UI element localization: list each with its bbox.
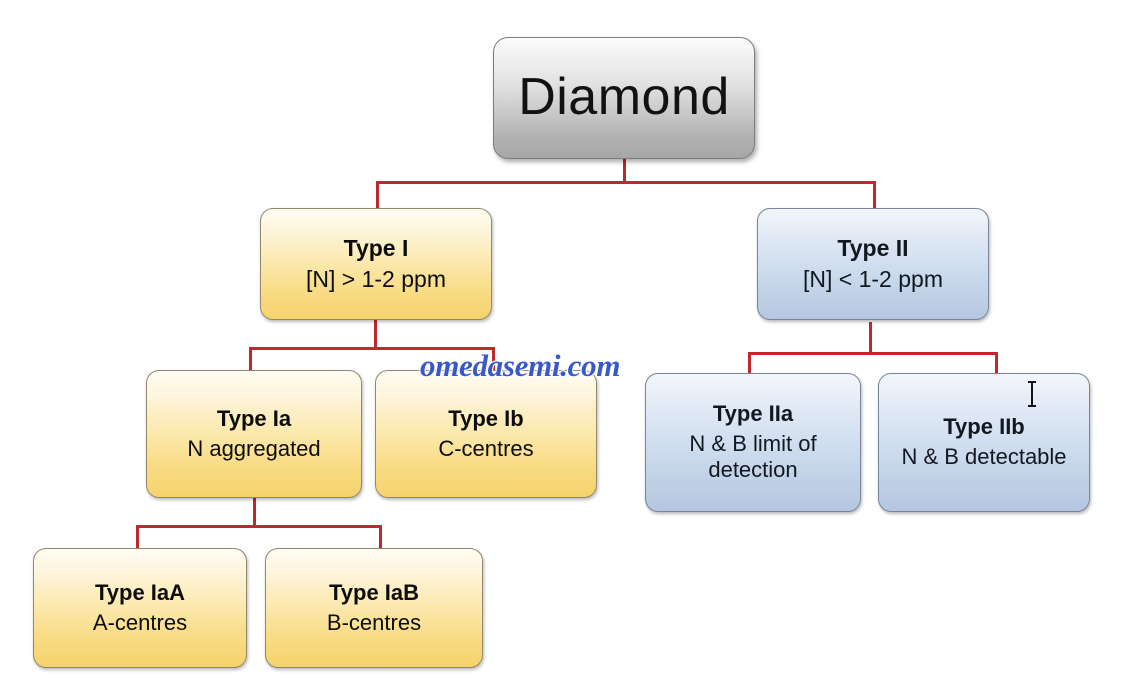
node-type-2b-subtitle: N & B detectable <box>894 444 1073 470</box>
connector-root-bar <box>376 181 876 184</box>
watermark: omedasemi.com <box>420 348 620 384</box>
connector-type1-to-type1a <box>249 347 252 371</box>
connector-type1a-to-type1aB <box>379 525 382 549</box>
text-cursor-artifact <box>1031 381 1033 407</box>
connector-type1a-bar <box>136 525 382 528</box>
node-type-2a[interactable]: Type IIa N & B limit of detection <box>645 373 861 512</box>
connector-root-stem <box>623 157 626 184</box>
node-type-2b-title: Type IIb <box>943 414 1025 440</box>
node-type-1b[interactable]: Type Ib C-centres <box>375 370 597 498</box>
node-type-2[interactable]: Type II [N] < 1-2 ppm <box>757 208 989 320</box>
connector-type2-to-type2b <box>995 352 998 374</box>
connector-type2-bar <box>748 352 998 355</box>
connector-type1a-to-type1aA <box>136 525 139 549</box>
connector-type1a-stem <box>253 497 256 526</box>
node-type-1aA-subtitle: A-centres <box>93 610 187 636</box>
node-diamond-title: Diamond <box>518 67 730 128</box>
node-type-1aB-title: Type IaB <box>329 580 419 606</box>
node-type-1a[interactable]: Type Ia N aggregated <box>146 370 362 498</box>
connector-type2-to-type2a <box>748 352 751 374</box>
node-type-2-subtitle: [N] < 1-2 ppm <box>803 266 943 294</box>
connector-root-to-type2 <box>873 181 876 210</box>
node-type-1b-title: Type Ib <box>448 406 523 432</box>
diagram-canvas: Diamond Type I [N] > 1-2 ppm Type II [N]… <box>0 0 1132 680</box>
connector-type2-stem <box>869 322 872 353</box>
node-type-1-subtitle: [N] > 1-2 ppm <box>306 266 446 294</box>
node-diamond[interactable]: Diamond <box>493 37 755 159</box>
connector-type1-stem <box>374 318 377 348</box>
node-type-1b-subtitle: C-centres <box>431 436 540 462</box>
node-type-2-title: Type II <box>837 235 908 262</box>
node-type-2b[interactable]: Type IIb N & B detectable <box>878 373 1090 512</box>
node-type-1[interactable]: Type I [N] > 1-2 ppm <box>260 208 492 320</box>
node-type-2a-title: Type IIa <box>713 401 793 427</box>
node-type-1aA[interactable]: Type IaA A-centres <box>33 548 247 668</box>
node-type-1-title: Type I <box>344 235 409 262</box>
node-type-1aB-subtitle: B-centres <box>327 610 421 636</box>
connector-root-to-type1 <box>376 181 379 210</box>
node-type-1aB[interactable]: Type IaB B-centres <box>265 548 483 668</box>
node-type-1aA-title: Type IaA <box>95 580 185 606</box>
node-type-1a-subtitle: N aggregated <box>180 436 327 462</box>
node-type-2a-subtitle: N & B limit of detection <box>646 431 860 484</box>
node-type-1a-title: Type Ia <box>217 406 291 432</box>
